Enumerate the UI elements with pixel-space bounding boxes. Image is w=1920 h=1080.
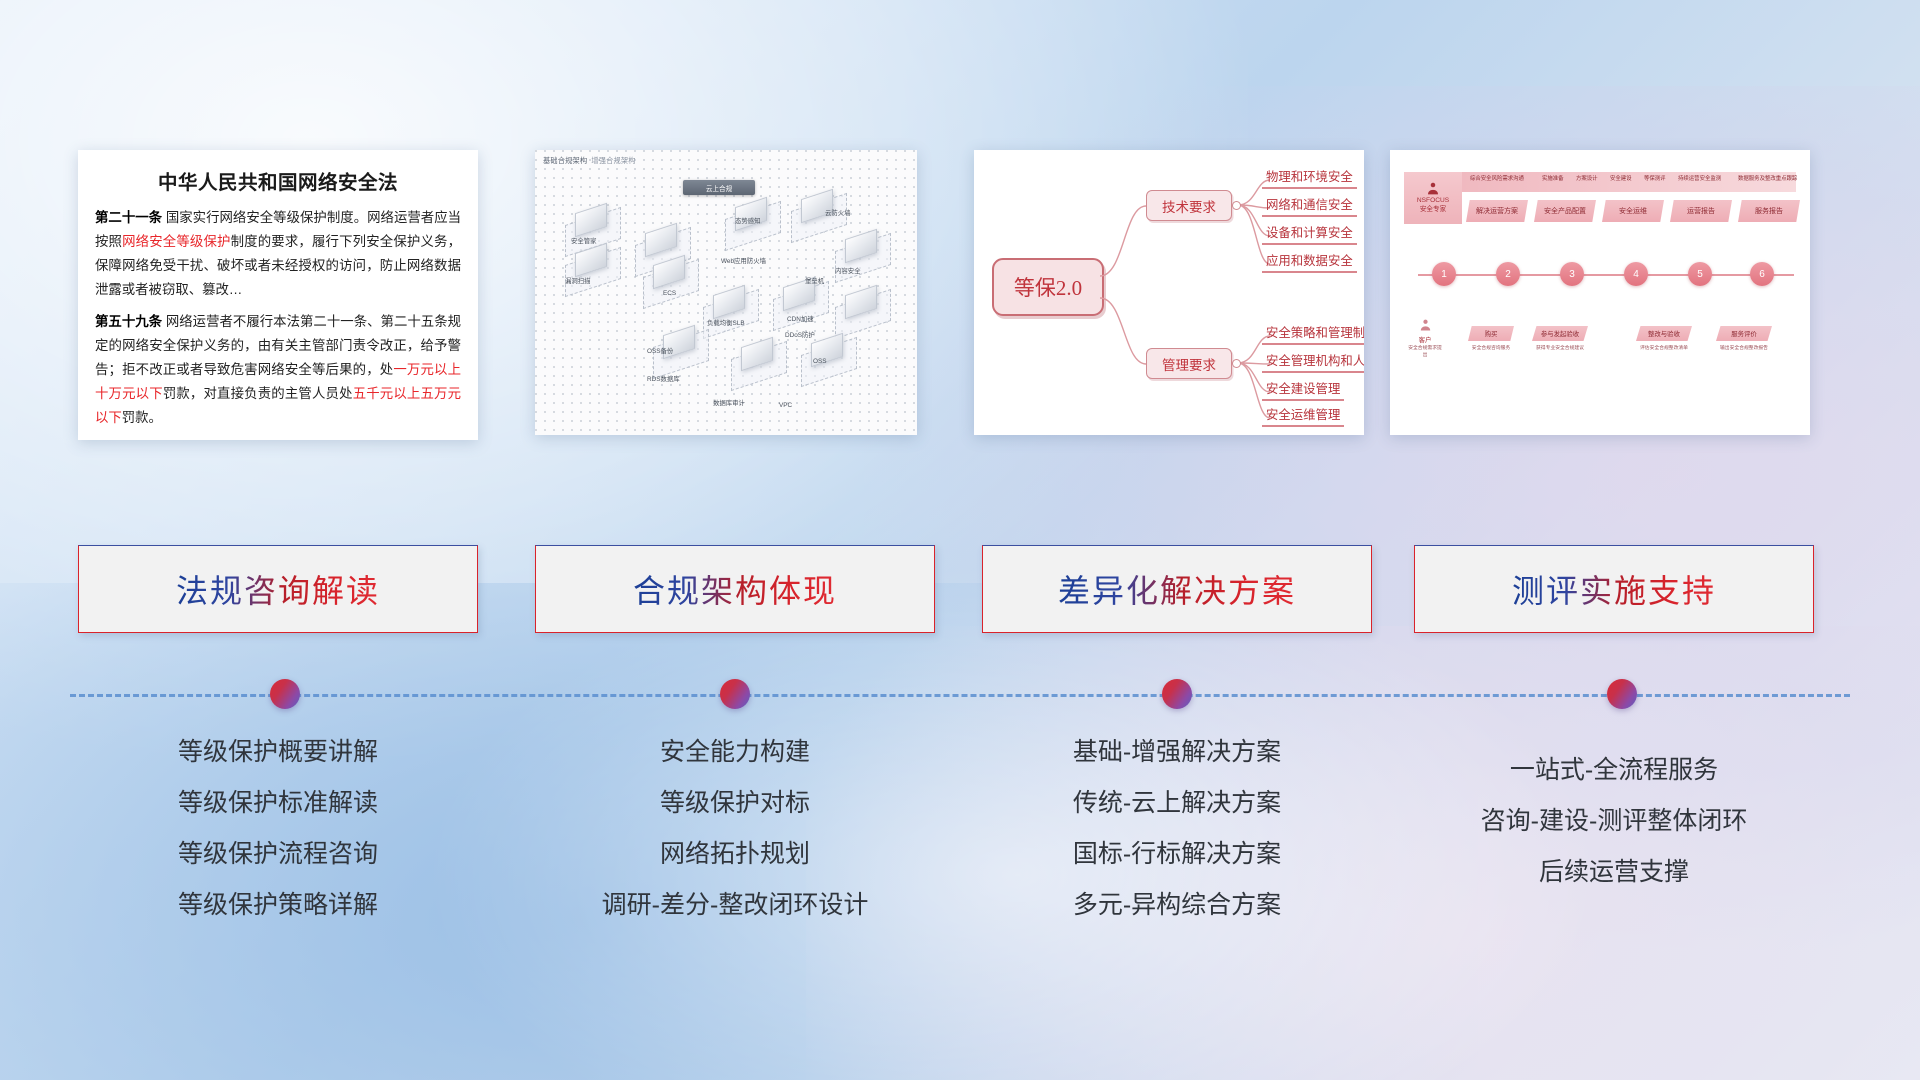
section-heading-label-3: 差异化解决方案: [1058, 566, 1296, 612]
arch-label-7: CDN加速: [787, 314, 814, 323]
customer-person-icon: [1418, 318, 1433, 333]
law-article-59-label: 第五十九条: [95, 314, 162, 329]
timeline-dot-4[interactable]: [1607, 679, 1637, 709]
nsfocus-pill-0: 购买: [1468, 326, 1514, 341]
nsfocus-step-3: 4: [1624, 262, 1648, 286]
reference-image-cards: 中华人民共和国网络安全法 第二十一条 国家实行网络安全等级保护制度。网络运营者应…: [0, 150, 1920, 445]
detail-column-2: 安全能力构建 等级保护对标 网络拓扑规划 调研-差分-整改闭环设计: [535, 740, 935, 918]
timeline-dot-3[interactable]: [1162, 679, 1192, 709]
nsfocus-service-1: 安全产品配置: [1534, 200, 1596, 222]
detail-item-3-0: 基础-增强解决方案: [982, 740, 1372, 765]
detail-column-3: 基础-增强解决方案 传统-云上解决方案 国标-行标解决方案 多元-异构综合方案: [982, 740, 1372, 918]
nsfocus-pill-3: 服务评价: [1716, 326, 1772, 341]
detail-item-2-3: 调研-差分-整改闭环设计: [535, 893, 935, 918]
card-nsfocus-service-flow: NSFOCUS 安全专家 综合安全风险需求沟通 实施准备 方案设计 安全建设 等…: [1390, 150, 1810, 435]
mindmap-leaf-mgmt-1: 安全管理机构和人员: [1262, 351, 1364, 373]
arch-label-4: 内容安全: [835, 266, 861, 275]
detail-item-2-1: 等级保护对标: [535, 791, 935, 816]
arch-label-9: OSS备份: [647, 346, 673, 355]
law-article-21-highlight: 网络安全等级保护: [122, 234, 231, 249]
detail-item-4-0: 一站式-全流程服务: [1414, 758, 1814, 783]
section-heading-box-2[interactable]: 合规架构体现: [535, 545, 935, 633]
nsfocus-brand-badge: NSFOCUS 安全专家: [1404, 172, 1462, 224]
arch-label-1: 漏洞扫描: [565, 276, 591, 285]
arch-label-10: RDS数据库: [647, 374, 680, 383]
detail-item-3-3: 多元-异构综合方案: [982, 893, 1372, 918]
detail-item-2-2: 网络拓扑规划: [535, 842, 935, 867]
detail-column-4: 一站式-全流程服务 咨询-建设-测评整体闭环 后续运营支撑: [1414, 758, 1814, 885]
nsfocus-step-0: 1: [1432, 262, 1456, 286]
arch-header-chip: 云上合规: [683, 180, 755, 195]
nsfocus-brand-line1: NSFOCUS: [1417, 197, 1449, 206]
detail-item-1-2: 等级保护流程咨询: [78, 842, 478, 867]
card-cybersecurity-law: 中华人民共和国网络安全法 第二十一条 国家实行网络安全等级保护制度。网络运营者应…: [78, 150, 478, 440]
nsfocus-ribbon-chip-6: 数据服务及整改重点跟踪: [1738, 174, 1797, 182]
arch-label-8: DDoS防护: [785, 330, 815, 339]
nsfocus-pill-caption-3: 输出安全合规整改报告: [1708, 344, 1780, 351]
nsfocus-pill-caption-0: 安全合规咨询服务: [1460, 344, 1522, 351]
nsfocus-ribbon-chip-5: 持续运营安全监测: [1678, 174, 1721, 182]
arch-label-11: OSS: [813, 358, 827, 365]
section-heading-label-4: 测评实施支持: [1512, 566, 1716, 612]
law-title: 中华人民共和国网络安全法: [95, 166, 461, 195]
nsfocus-service-row: 解决运营方案 安全产品配置 安全运维 运营报告 服务报告: [1466, 200, 1800, 222]
nsfocus-ribbon-chip-3: 安全建设: [1610, 174, 1632, 182]
nsfocus-step-2: 3: [1560, 262, 1584, 286]
card-mindmap-dengbao: 等保2.0 技术要求 管理要求 物理和环境安全: [974, 150, 1364, 435]
detail-item-2-0: 安全能力构建: [535, 740, 935, 765]
mindmap-leaf-mgmt-2: 安全建设管理: [1262, 379, 1344, 401]
nsfocus-customer-block: 客户 安全合规需求提出: [1408, 318, 1442, 359]
nsfocus-step-4: 5: [1688, 262, 1712, 286]
detail-columns: 等级保护概要讲解 等级保护标准解读 等级保护流程咨询 等级保护策略详解 安全能力…: [0, 740, 1920, 980]
nsfocus-brand-line2: 安全专家: [1420, 206, 1446, 215]
nsfocus-pill-2: 整改与验收: [1636, 326, 1692, 341]
nsfocus-timeline-axis: [1418, 274, 1794, 276]
timeline-dashed-line: [70, 694, 1850, 697]
detail-item-1-3: 等级保护策略详解: [78, 893, 478, 918]
detail-item-1-0: 等级保护概要讲解: [78, 740, 478, 765]
law-article-21-label: 第二十一条: [95, 210, 162, 225]
nsfocus-service-3: 运营报告: [1670, 200, 1732, 222]
law-article-21: 第二十一条 国家实行网络安全等级保护制度。网络运营者应当按照网络安全等级保护制度…: [95, 206, 461, 301]
arch-caption: 基础合规架构增强合规架构: [543, 156, 636, 166]
section-heading-row: 法规咨询解读 合规架构体现 差异化解决方案 测评实施支持: [0, 545, 1920, 637]
nsfocus-customer-label: 客户: [1408, 337, 1442, 346]
mindmap-leaf-mgmt-3: 安全运维管理: [1262, 405, 1344, 427]
nsfocus-pill-caption-2: 评估安全合规整改清单: [1628, 344, 1700, 351]
mindmap-leaf-mgmt-0: 安全策略和管理制度: [1262, 323, 1364, 345]
detail-item-4-1: 咨询-建设-测评整体闭环: [1414, 809, 1814, 834]
expert-person-icon: [1425, 181, 1441, 197]
detail-column-1: 等级保护概要讲解 等级保护标准解读 等级保护流程咨询 等级保护策略详解: [78, 740, 478, 918]
law-article-59-text2: 罚款，对直接负责的主管人员处: [163, 386, 353, 401]
nsfocus-step-5: 6: [1750, 262, 1774, 286]
slide-stage: 中华人民共和国网络安全法 第二十一条 国家实行网络安全等级保护制度。网络运营者应…: [0, 0, 1920, 1080]
nsfocus-service-2: 安全运维: [1602, 200, 1664, 222]
nsfocus-service-0: 解决运营方案: [1466, 200, 1528, 222]
mindmap-leaf-tech-2: 设备和计算安全: [1262, 223, 1357, 245]
section-heading-label-2: 合规架构体现: [633, 566, 837, 612]
nsfocus-service-4: 服务报告: [1738, 200, 1800, 222]
arch-label-2: Web应用防火墙: [721, 256, 766, 265]
mindmap-leaf-tech-1: 网络和通信安全: [1262, 195, 1357, 217]
arch-label-13: 数据库审计: [713, 398, 745, 407]
section-heading-box-1[interactable]: 法规咨询解读: [78, 545, 478, 633]
mindmap-branch-technical: 技术要求: [1146, 190, 1232, 221]
law-article-59: 第五十九条 网络运营者不履行本法第二十一条、第二十五条规定的网络安全保护义务的，…: [95, 310, 461, 429]
nsfocus-ribbon-chip-2: 方案设计: [1576, 174, 1598, 182]
detail-item-3-1: 传统-云上解决方案: [982, 791, 1372, 816]
timeline-dot-2[interactable]: [720, 679, 750, 709]
section-heading-box-4[interactable]: 测评实施支持: [1414, 545, 1814, 633]
arch-label-14: 态势感知: [735, 216, 761, 225]
arch-label-12: VPC: [779, 402, 792, 409]
detail-item-1-1: 等级保护标准解读: [78, 791, 478, 816]
nsfocus-ribbon-chip-1: 实施准备: [1542, 174, 1564, 182]
mindmap-collapse-dot-technical[interactable]: [1232, 201, 1241, 210]
section-heading-label-1: 法规咨询解读: [176, 566, 380, 612]
nsfocus-customer-caption: 安全合规需求提出: [1408, 346, 1442, 359]
arch-label-5: ECS: [663, 290, 676, 297]
arch-label-15: 云防火墙: [825, 208, 851, 217]
law-article-59-text3: 罚款。: [122, 410, 162, 425]
timeline-dot-1[interactable]: [270, 679, 300, 709]
arch-label-3: 堡垒机: [805, 276, 824, 285]
mindmap-leaf-tech-0: 物理和环境安全: [1262, 167, 1357, 189]
nsfocus-ribbon-chip-4: 等保测评: [1644, 174, 1666, 182]
card-compliance-architecture: 基础合规架构增强合规架构 云上合规: [535, 150, 917, 435]
mindmap-collapse-dot-management[interactable]: [1232, 359, 1241, 368]
mindmap-leaf-tech-3: 应用和数据安全: [1262, 251, 1357, 273]
detail-item-4-2: 后续运营支撑: [1414, 860, 1814, 885]
section-heading-box-3[interactable]: 差异化解决方案: [982, 545, 1372, 633]
arch-caption-main: 基础合规架构: [543, 156, 587, 165]
arch-label-6: 负载均衡SLB: [707, 318, 745, 327]
mindmap-branch-management: 管理要求: [1146, 348, 1232, 379]
timeline: [70, 693, 1850, 697]
nsfocus-pill-1: 参与发起验收: [1532, 326, 1588, 341]
nsfocus-step-1: 2: [1496, 262, 1520, 286]
nsfocus-pill-caption-1: 获得专业安全合规建议: [1524, 344, 1596, 351]
nsfocus-ribbon-chip-0: 综合安全风险需求沟通: [1470, 174, 1524, 182]
arch-caption-sub: 增强合规架构: [591, 156, 635, 165]
arch-label-0: 安全管家: [571, 236, 597, 245]
detail-item-3-2: 国标-行标解决方案: [982, 842, 1372, 867]
